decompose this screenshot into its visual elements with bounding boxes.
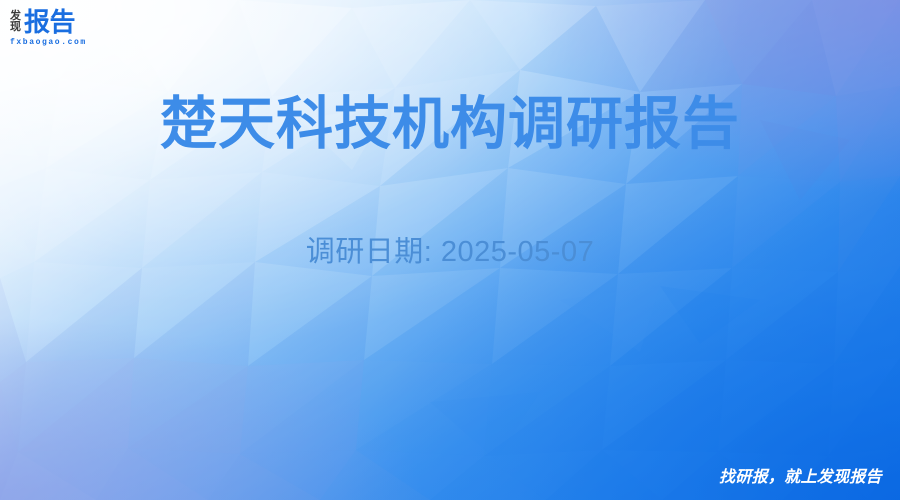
page-title: 楚天科技机构调研报告 — [0, 88, 900, 160]
survey-date-subtitle: 调研日期: 2025-05-07 — [0, 232, 900, 272]
logo-wordmark: 报告 — [24, 9, 75, 35]
logo-stacked-characters: 发 现 — [10, 11, 21, 35]
footer-tagline: 找研报，就上发现报告 — [719, 468, 882, 488]
logo-wordmark-group: 发 现 报告 — [10, 9, 75, 35]
logo-char-xian: 现 — [10, 22, 21, 33]
site-logo[interactable]: 发 现 报告 fxbaogao.com — [10, 9, 87, 47]
report-cover: 发 现 报告 fxbaogao.com 楚天科技机构调研报告 调研日期: 202… — [0, 0, 900, 500]
logo-url: fxbaogao.com — [10, 38, 87, 47]
